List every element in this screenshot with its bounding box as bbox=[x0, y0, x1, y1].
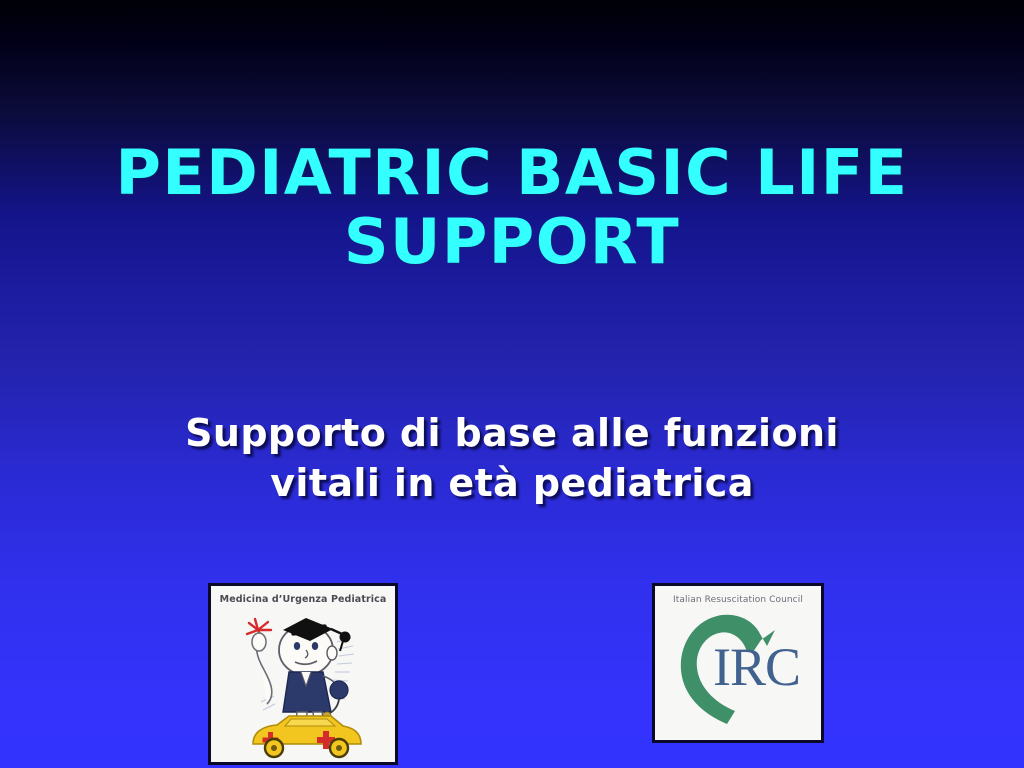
cartoon-doctor-ambulance-icon bbox=[211, 608, 398, 763]
logo-caption-medicina-urgenza-pediatrica: Medicina d’Urgenza Pediatrica bbox=[211, 594, 395, 605]
subtitle-line-1: Supporto di base alle funzioni bbox=[110, 408, 914, 458]
logo-caption-italian-resuscitation-council: Italian Resuscitation Council bbox=[655, 595, 821, 605]
page-title: PEDIATRIC BASIC LIFE SUPPORT bbox=[0, 138, 1024, 277]
logo-medicina-urgenza-pediatrica: Medicina d’Urgenza Pediatrica bbox=[208, 583, 398, 765]
subtitle-line-2: vitali in età pediatrica bbox=[110, 458, 914, 508]
slide-canvas: PEDIATRIC BASIC LIFE SUPPORT Supporto di… bbox=[0, 0, 1024, 768]
page-subtitle: Supporto di base alle funzioni vitali in… bbox=[0, 408, 1024, 508]
logo-monogram-irc: IRC bbox=[713, 640, 800, 694]
title-line-2: SUPPORT bbox=[40, 207, 984, 276]
title-line-1: PEDIATRIC BASIC LIFE bbox=[40, 138, 984, 207]
logo-italian-resuscitation-council: Italian Resuscitation Council IRC bbox=[652, 583, 824, 743]
